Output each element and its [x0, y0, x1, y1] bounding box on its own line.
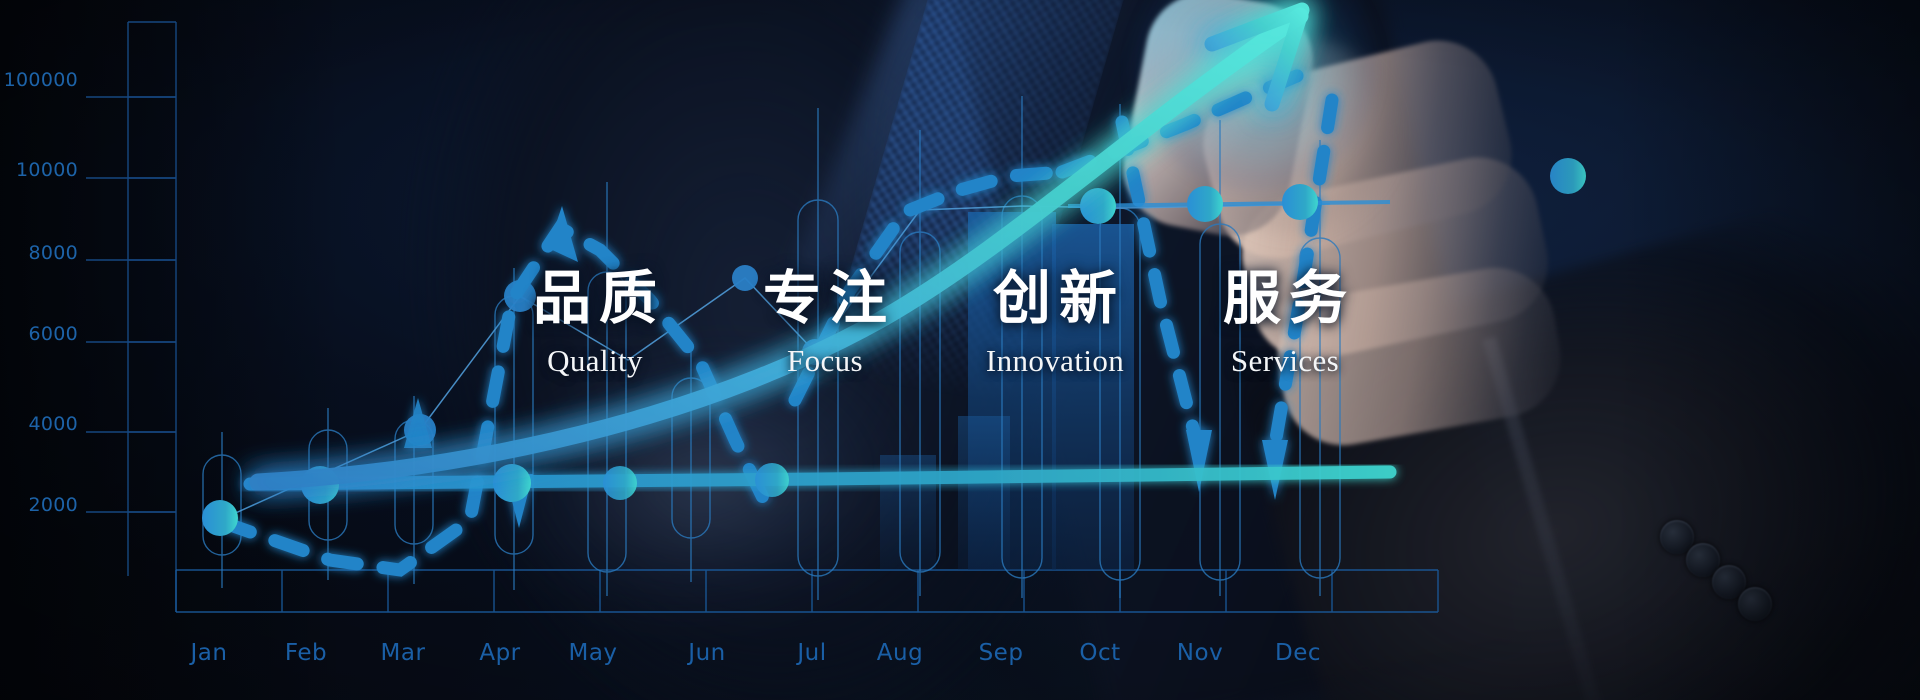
y-tick-10000: 10000 — [0, 159, 78, 181]
x-tick-apr: Apr — [479, 640, 520, 666]
slogan-innovation-cn: 创新 — [960, 268, 1150, 329]
y-tick-2000: 2000 — [0, 494, 78, 516]
bottom-grid-band — [176, 570, 1438, 612]
x-tick-nov: Nov — [1177, 640, 1223, 666]
slogan-innovation-en: Innovation — [960, 343, 1150, 379]
x-tick-aug: Aug — [877, 640, 923, 666]
slogan-group: 品质 Quality 专注 Focus 创新 Innovation 服务 Ser… — [500, 268, 1380, 438]
x-tick-may: May — [568, 640, 617, 666]
x-tick-jan: Jan — [191, 640, 228, 666]
x-tick-jul: Jul — [797, 640, 826, 666]
slogan-services: 服务 Services — [1190, 268, 1380, 379]
x-tick-dec: Dec — [1275, 640, 1321, 666]
y-tick-100000: 100000 — [0, 69, 78, 91]
x-tick-sep: Sep — [979, 640, 1024, 666]
slogan-services-cn: 服务 — [1190, 268, 1380, 329]
y-tick-6000: 6000 — [0, 323, 78, 345]
slogan-focus: 专注 Focus — [730, 268, 920, 379]
x-tick-oct: Oct — [1079, 640, 1120, 666]
slogan-quality-en: Quality — [500, 343, 690, 379]
slogan-focus-cn: 专注 — [730, 268, 920, 329]
hero-banner: 100000 10000 8000 6000 4000 2000 Jan Feb… — [0, 0, 1920, 700]
slogan-quality-cn: 品质 — [500, 268, 690, 329]
y-axis-gridlines — [86, 22, 176, 612]
y-tick-8000: 8000 — [0, 242, 78, 264]
slogan-innovation: 创新 Innovation — [960, 268, 1150, 379]
slogan-quality: 品质 Quality — [500, 268, 690, 379]
slogan-services-en: Services — [1190, 343, 1380, 379]
y-tick-4000: 4000 — [0, 413, 78, 435]
x-tick-mar: Mar — [381, 640, 426, 666]
x-tick-jun: Jun — [688, 640, 725, 666]
slogan-focus-en: Focus — [730, 343, 920, 379]
x-tick-feb: Feb — [285, 640, 327, 666]
